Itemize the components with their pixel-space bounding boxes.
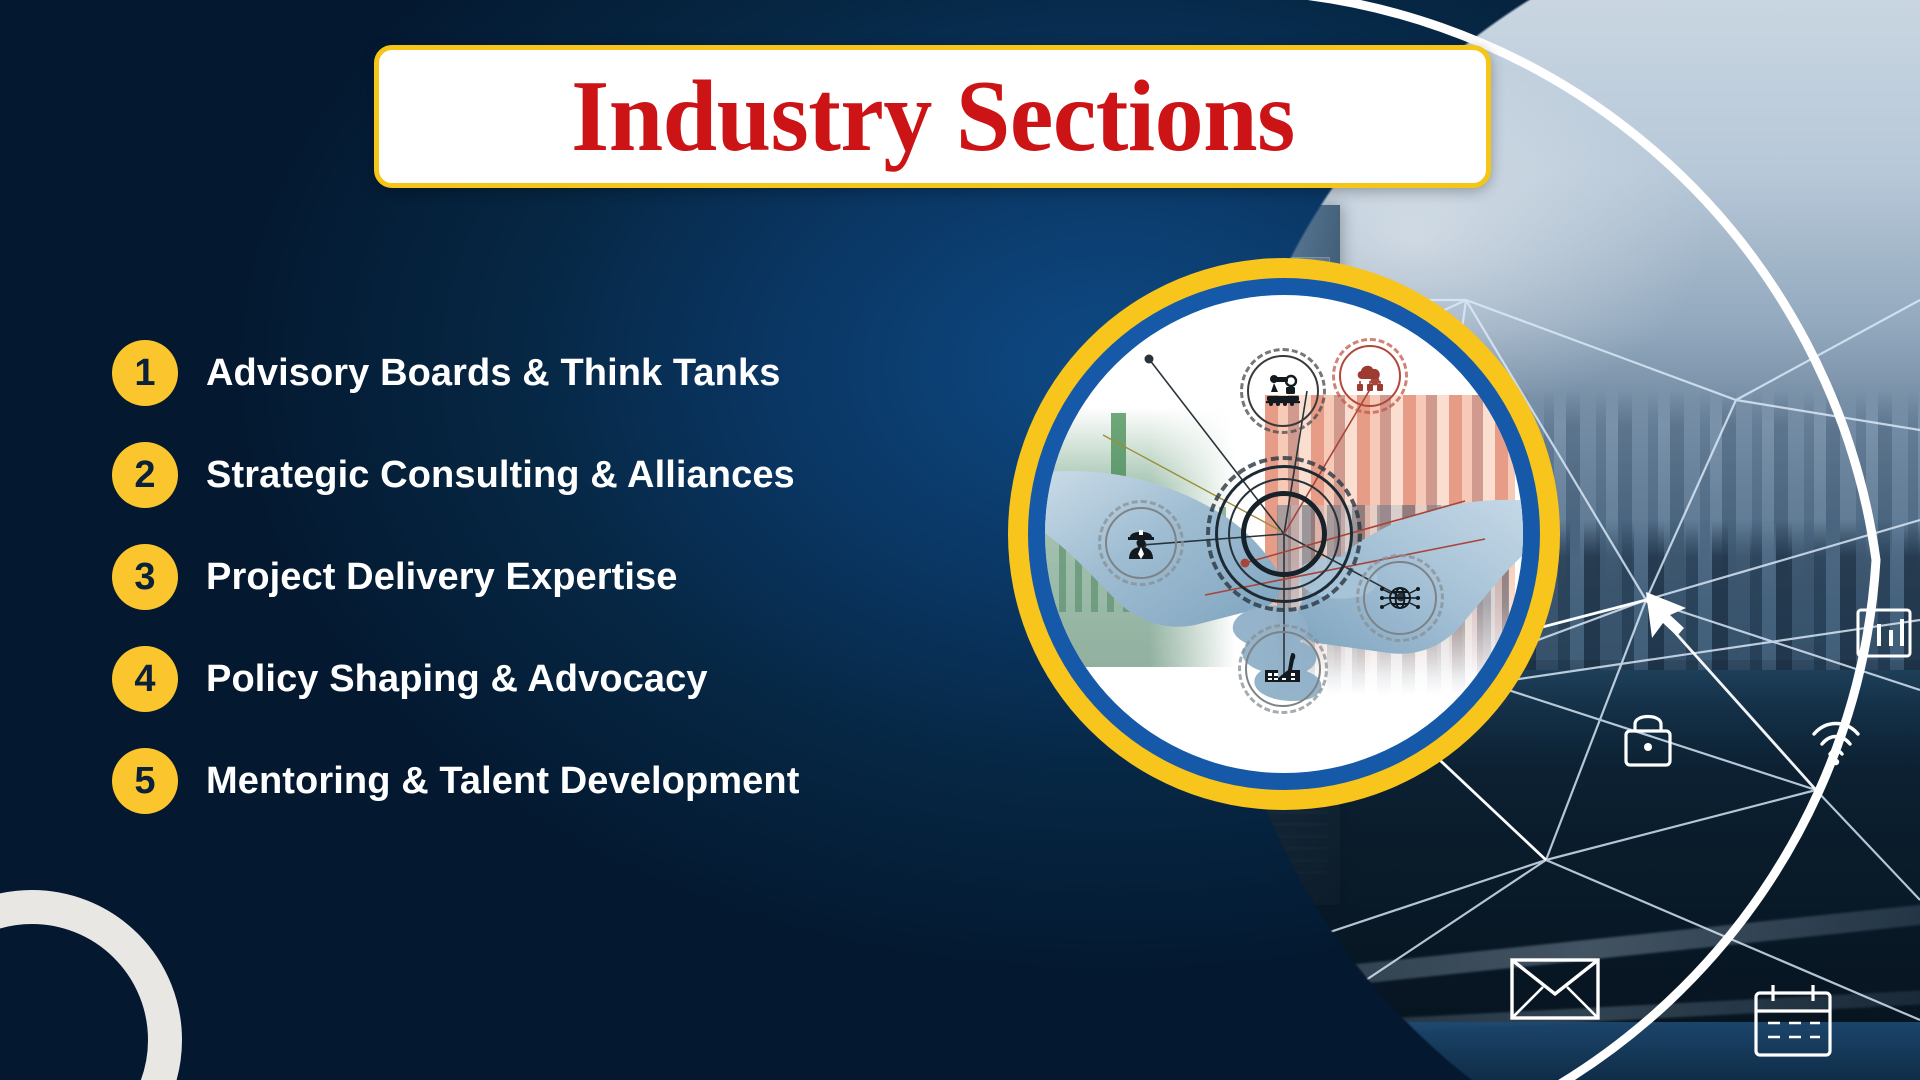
list-item[interactable]: 5 Mentoring & Talent Development [112,730,992,832]
list-item-label: Policy Shaping & Advocacy [206,658,708,701]
list-item-number-badge: 3 [112,544,178,610]
slide-canvas: Industry Sections 1 Advisory Boards & Th… [0,0,1920,1080]
list-item-label: Mentoring & Talent Development [206,760,799,803]
industry-sections-list: 1 Advisory Boards & Think Tanks 2 Strate… [112,322,992,832]
list-item[interactable]: 4 Policy Shaping & Advocacy [112,628,992,730]
circle-inner-content [1045,295,1523,773]
list-item[interactable]: 1 Advisory Boards & Think Tanks [112,322,992,424]
globe-network-glyph [1379,577,1421,619]
engineer-glyph [1122,524,1160,562]
cloud-iot-glyph [1353,359,1387,393]
cloud-iot-icon [1339,345,1401,407]
page-title: Industry Sections [571,66,1295,168]
factory-glyph [1262,648,1304,690]
handshake-hub [1215,465,1353,603]
page-title-box: Industry Sections [374,45,1491,188]
robot-arm-glyph [1262,370,1304,412]
list-item-label: Advisory Boards & Think Tanks [206,352,780,395]
list-item[interactable]: 2 Strategic Consulting & Alliances [112,424,992,526]
hub-ring-3 [1241,491,1327,577]
robot-arm-icon [1247,355,1319,427]
list-item-number-badge: 4 [112,646,178,712]
waterfront [1216,1022,1920,1080]
engineer-icon [1105,507,1177,579]
decorative-corner-ring [0,890,182,1080]
list-item-label: Project Delivery Expertise [206,556,678,599]
list-item[interactable]: 3 Project Delivery Expertise [112,526,992,628]
industry-partnership-circle [1008,258,1560,810]
list-item-number-badge: 2 [112,442,178,508]
list-item-label: Strategic Consulting & Alliances [206,454,795,497]
list-item-number-badge: 1 [112,340,178,406]
factory-icon [1245,631,1321,707]
list-item-number-badge: 5 [112,748,178,814]
globe-network-icon [1363,561,1437,635]
